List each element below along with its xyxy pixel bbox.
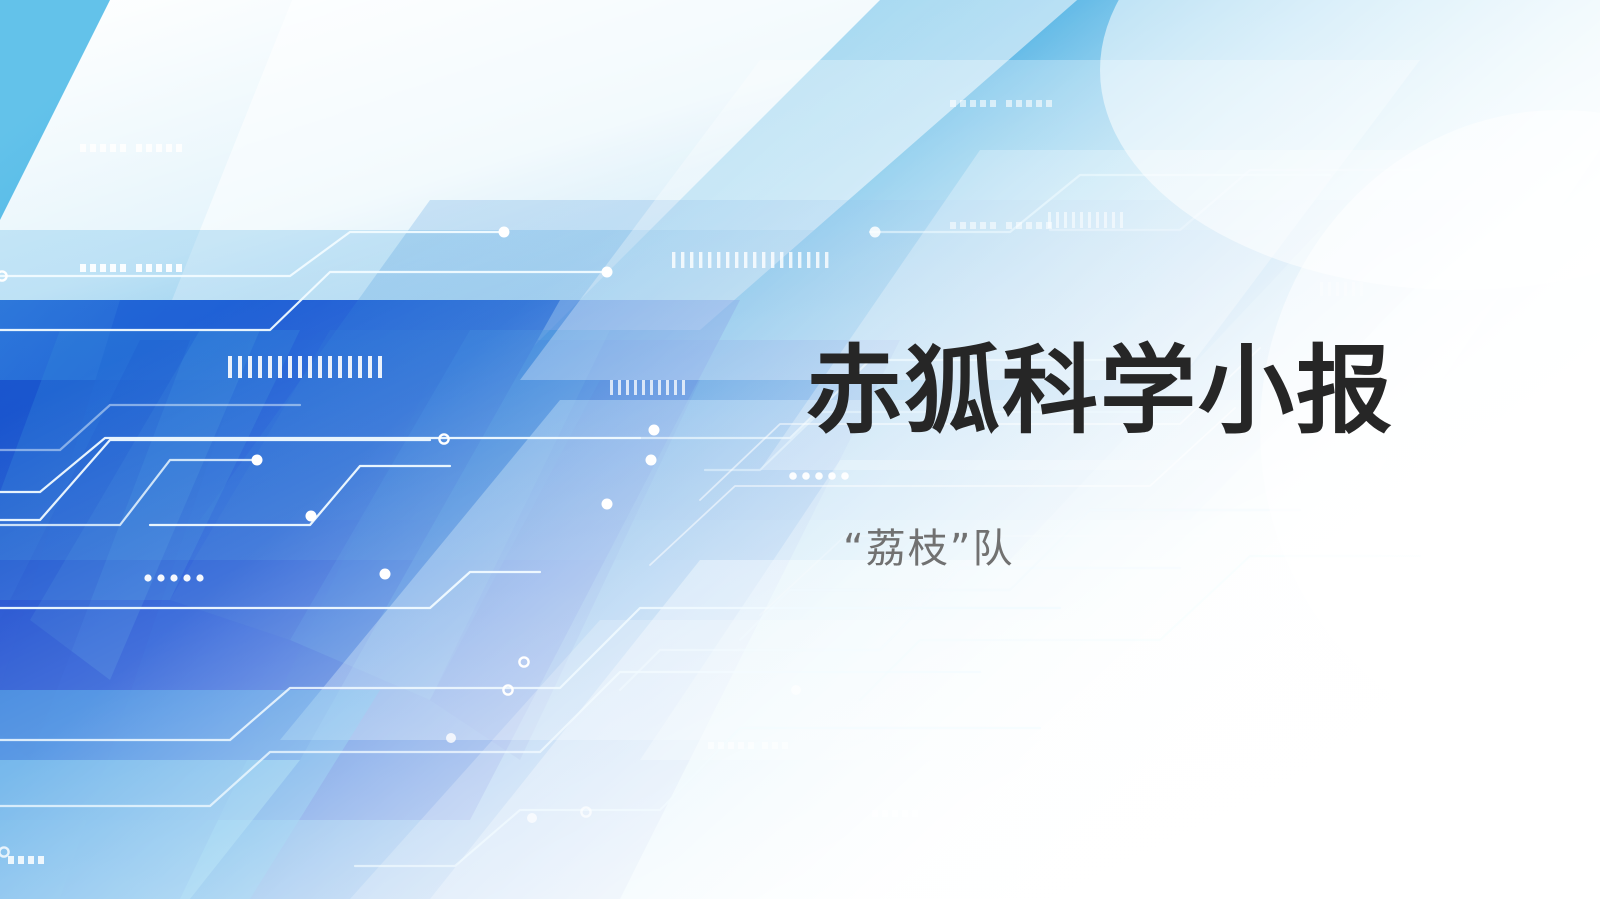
endpoint-dot-filled [252, 455, 263, 466]
endpoint-dot-filled [306, 511, 317, 522]
endpoint-dot-filled [791, 685, 801, 695]
endpoint-dot-filled [499, 227, 510, 238]
page-subtitle: “荔枝”队 [843, 525, 1014, 573]
background-graphic [0, 0, 1600, 899]
endpoint-dot-filled [602, 499, 613, 510]
endpoint-dot-filled [646, 455, 657, 466]
endpoint-dot-filled [602, 267, 613, 278]
endpoint-dot-filled [380, 569, 391, 580]
endpoint-dot-filled [649, 425, 660, 436]
endpoint-dot-filled [870, 227, 881, 238]
endpoint-dot-filled [527, 813, 537, 823]
page-title: 赤狐科学小报 [806, 341, 1394, 442]
title-slide: 赤狐科学小报 “荔枝”队 [0, 0, 1600, 899]
endpoint-dot-filled [446, 733, 456, 743]
dot-group-bottom-center [708, 742, 788, 749]
